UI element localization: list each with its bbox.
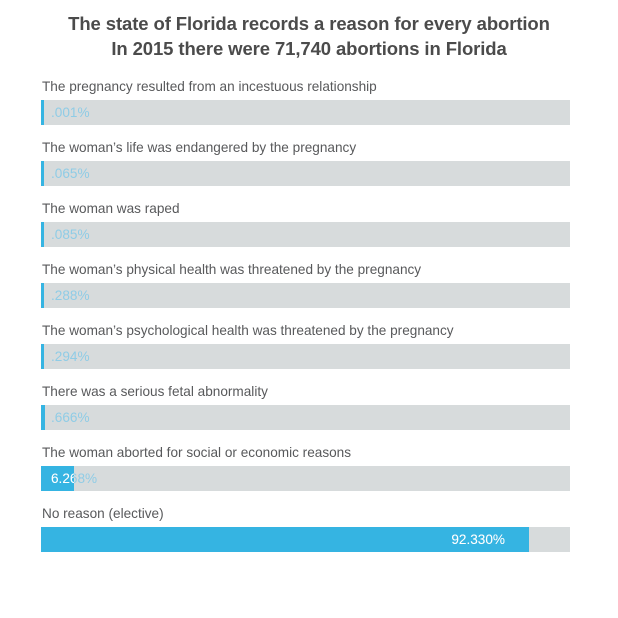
bar-group: The woman’s psychological health was thr… bbox=[41, 322, 570, 369]
bar-category-label: There was a serious fetal abnormality bbox=[42, 383, 570, 400]
bar-category-label: The woman aborted for social or economic… bbox=[42, 444, 570, 461]
bar-value-label: .065% bbox=[51, 161, 90, 186]
bar-value-clip: 6.268% bbox=[41, 466, 74, 491]
bar-category-label: The woman’s life was endangered by the p… bbox=[42, 139, 570, 156]
bar-track: 92.330%92.330% bbox=[41, 527, 570, 552]
bar-group: The woman’s life was endangered by the p… bbox=[41, 139, 570, 186]
bar-category-label: The woman’s physical health was threaten… bbox=[42, 261, 570, 278]
bar-value-label-highlight: 92.330% bbox=[41, 527, 529, 552]
bar-value-clip: .065% bbox=[41, 161, 44, 186]
bar-chart: The pregnancy resulted from an incestuou… bbox=[0, 78, 618, 552]
bar-value-clip: .001% bbox=[41, 100, 44, 125]
bar-track: .065%.065% bbox=[41, 161, 570, 186]
bar-value-clip: 92.330% bbox=[41, 527, 529, 552]
bar-value-label: .001% bbox=[51, 100, 90, 125]
bar-group: There was a serious fetal abnormality.66… bbox=[41, 383, 570, 430]
bar-value-label: .294% bbox=[51, 344, 90, 369]
bar-track: 6.268%6.268% bbox=[41, 466, 570, 491]
bar-track: .001%.001% bbox=[41, 100, 570, 125]
chart-title-line-1: The state of Florida records a reason fo… bbox=[0, 11, 618, 36]
chart-figure: The state of Florida records a reason fo… bbox=[0, 0, 618, 618]
bar-value-label: .085% bbox=[51, 222, 90, 247]
bar-category-label: The pregnancy resulted from an incestuou… bbox=[42, 78, 570, 95]
bar-value-clip: .085% bbox=[41, 222, 44, 247]
bar-track: .294%.294% bbox=[41, 344, 570, 369]
bar-value-clip: .666% bbox=[41, 405, 45, 430]
bar-group: The woman’s physical health was threaten… bbox=[41, 261, 570, 308]
bar-track: .666%.666% bbox=[41, 405, 570, 430]
bar-category-label: No reason (elective) bbox=[42, 505, 570, 522]
bar-value-label-highlight: 6.268% bbox=[51, 466, 74, 491]
bar-value-label: .288% bbox=[51, 283, 90, 308]
bar-value-label: .666% bbox=[51, 405, 90, 430]
chart-title-line-2: In 2015 there were 71,740 abortions in F… bbox=[0, 36, 618, 61]
bar-category-label: The woman’s psychological health was thr… bbox=[42, 322, 570, 339]
bar-value-clip: .288% bbox=[41, 283, 44, 308]
bar-category-label: The woman was raped bbox=[42, 200, 570, 217]
bar-group: The woman was raped.085%.085% bbox=[41, 200, 570, 247]
bar-group: No reason (elective)92.330%92.330% bbox=[41, 505, 570, 552]
bar-track: .288%.288% bbox=[41, 283, 570, 308]
bar-track: .085%.085% bbox=[41, 222, 570, 247]
bar-group: The woman aborted for social or economic… bbox=[41, 444, 570, 491]
chart-title-block: The state of Florida records a reason fo… bbox=[0, 0, 618, 61]
bar-group: The pregnancy resulted from an incestuou… bbox=[41, 78, 570, 125]
bar-value-clip: .294% bbox=[41, 344, 44, 369]
